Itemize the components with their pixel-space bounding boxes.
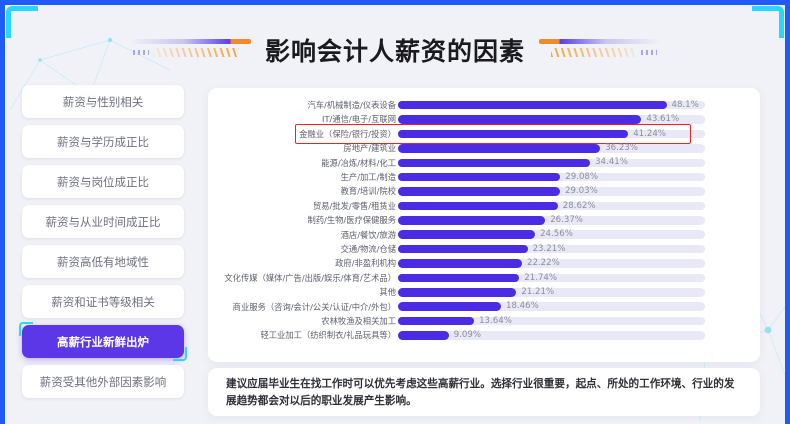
bar-value-label: 26.37% <box>550 216 583 225</box>
bar-value-label: 36.23% <box>605 144 638 153</box>
bar-row: 能源/冶炼/材料/化工34.41% <box>208 156 760 170</box>
bar-fill <box>398 130 628 139</box>
bar-value-label: 28.62% <box>563 202 596 211</box>
sidebar-item-7[interactable]: 薪资受其他外部因素影响 <box>22 365 184 398</box>
bar-track <box>398 144 705 153</box>
note-card: 建议应届毕业生在找工作时可以优先考虑这些高薪行业。选择行业很重要，起点、所处的工… <box>208 368 760 416</box>
sidebar-item-4[interactable]: 薪资高低有地域性 <box>22 245 184 278</box>
bar-fill <box>398 230 535 239</box>
sidebar-item-6[interactable]: 高薪行业新鲜出炉 <box>22 325 184 358</box>
bar-category-label: 其他 <box>379 288 396 296</box>
bar-track <box>398 317 705 326</box>
bar-fill <box>398 317 474 326</box>
bar-fill <box>398 331 449 340</box>
bar-track <box>398 302 705 311</box>
bar-fill <box>398 173 560 182</box>
title-decor-left-icon <box>129 35 251 65</box>
bar-value-label: 41.24% <box>633 130 666 139</box>
sidebar-item-5[interactable]: 薪资和证书等级相关 <box>22 285 184 318</box>
title-decor-right-icon <box>539 35 661 65</box>
sidebar-item-1[interactable]: 薪资与学历成正比 <box>22 125 184 158</box>
bar-category-label: 金融业（保险/银行/投资） <box>299 130 396 138</box>
bar-row: 制药/生物/医疗保健服务26.37% <box>208 213 760 227</box>
bar-value-label: 29.03% <box>565 187 598 196</box>
bar-row: 生产/加工/制造29.08% <box>208 170 760 184</box>
bar-value-label: 48.1% <box>672 101 699 110</box>
bar-value-label: 34.41% <box>595 158 628 167</box>
bar-category-label: 生产/加工/制造 <box>341 173 396 181</box>
bar-category-label: 贸易/批发/零售/租赁业 <box>313 202 396 210</box>
bar-category-label: 农林牧渔及相关加工 <box>321 317 396 325</box>
bar-row: 农林牧渔及相关加工13.64% <box>208 314 760 328</box>
bar-fill <box>398 302 501 311</box>
sidebar-nav: 薪资与性别相关薪资与学历成正比薪资与岗位成正比薪资与从业时间成正比薪资高低有地域… <box>22 85 184 398</box>
bar-fill <box>398 115 641 124</box>
bar-category-label: 轻工业加工（纺织制衣/礼品玩具等） <box>260 331 396 339</box>
bar-row: 酒店/餐饮/旅游24.56% <box>208 228 760 242</box>
bar-row: IT/通信/电子/互联网43.61% <box>208 112 760 126</box>
bar-fill <box>398 101 667 110</box>
bar-track <box>398 187 705 196</box>
bar-fill <box>398 159 590 168</box>
bar-row: 教育/培训/院校29.03% <box>208 184 760 198</box>
bar-fill <box>398 216 545 225</box>
frame-top-border <box>0 0 790 5</box>
sidebar-item-2[interactable]: 薪资与岗位成正比 <box>22 165 184 198</box>
sidebar-item-3[interactable]: 薪资与从业时间成正比 <box>22 205 184 238</box>
sidebar-item-label: 薪资高低有地域性 <box>57 254 149 270</box>
bar-row: 商业服务（咨询/会计/公关/认证/中介/外包）18.46% <box>208 299 760 313</box>
bar-value-label: 23.21% <box>533 245 566 254</box>
bar-fill <box>398 288 516 297</box>
bar-category-label: 酒店/餐饮/旅游 <box>341 231 396 239</box>
bar-fill <box>398 259 522 268</box>
bar-value-label: 21.21% <box>521 288 554 297</box>
bar-row: 房地产/建筑业36.23% <box>208 141 760 155</box>
bar-fill <box>398 187 560 196</box>
bar-row: 贸易/批发/零售/租赁业28.62% <box>208 199 760 213</box>
bar-row: 金融业（保险/银行/投资）41.24% <box>208 127 760 141</box>
bar-track <box>398 202 705 211</box>
bar-value-label: 22.22% <box>527 259 560 268</box>
sidebar-item-0[interactable]: 薪资与性别相关 <box>22 85 184 118</box>
bar-row: 汽车/机械制造/仪表设备48.1% <box>208 98 760 112</box>
bar-category-label: IT/通信/电子/互联网 <box>322 115 396 123</box>
bar-value-label: 43.61% <box>646 115 679 124</box>
bar-category-label: 房地产/建筑业 <box>343 144 396 152</box>
bar-row: 轻工业加工（纺织制衣/礼品玩具等）9.09% <box>208 328 760 342</box>
sidebar-item-label: 薪资和证书等级相关 <box>51 294 155 310</box>
bar-category-label: 商业服务（咨询/会计/公关/认证/中介/外包） <box>233 303 396 311</box>
bar-category-label: 交通/物流/仓储 <box>341 245 396 253</box>
sidebar-item-label: 薪资受其他外部因素影响 <box>40 374 167 390</box>
bar-row: 文化传媒（媒体/广告/出版/娱乐/体育/艺术品）21.74% <box>208 271 760 285</box>
bar-category-label: 能源/冶炼/材料/化工 <box>321 159 396 167</box>
sidebar-item-label: 薪资与岗位成正比 <box>57 174 149 190</box>
page-title: 影响会计人薪资的因素 <box>265 32 525 68</box>
bar-category-label: 汽车/机械制造/仪表设备 <box>307 101 396 109</box>
sidebar-item-label: 薪资与性别相关 <box>63 94 144 110</box>
bar-row: 交通/物流/仓储23.21% <box>208 242 760 256</box>
bar-fill <box>398 274 519 283</box>
bar-track <box>398 331 705 340</box>
bar-category-label: 政府/非盈利机构 <box>335 259 396 267</box>
bar-category-label: 制药/生物/医疗保健服务 <box>307 216 396 224</box>
bar-value-label: 29.08% <box>565 173 598 182</box>
bar-track <box>398 173 705 182</box>
sidebar-item-label: 薪资与从业时间成正比 <box>46 214 161 230</box>
bar-track <box>398 159 705 168</box>
bar-value-label: 9.09% <box>454 331 481 340</box>
page-header: 影响会计人薪资的因素 <box>0 28 790 72</box>
bar-category-label: 教育/培训/院校 <box>341 187 396 195</box>
bar-fill <box>398 202 558 211</box>
sidebar-item-label: 薪资与学历成正比 <box>57 134 149 150</box>
sidebar-item-label: 高薪行业新鲜出炉 <box>57 334 149 350</box>
bar-chart: 汽车/机械制造/仪表设备48.1%IT/通信/电子/互联网43.61%金融业（保… <box>208 98 760 343</box>
bar-value-label: 24.56% <box>540 230 573 239</box>
bar-row: 其他21.21% <box>208 285 760 299</box>
bar-row: 政府/非盈利机构22.22% <box>208 256 760 270</box>
chart-card: 汽车/机械制造/仪表设备48.1%IT/通信/电子/互联网43.61%金融业（保… <box>208 88 760 362</box>
bar-value-label: 13.64% <box>479 317 512 326</box>
bar-value-label: 21.74% <box>524 274 557 283</box>
bar-fill <box>398 245 528 254</box>
bar-track <box>398 101 705 110</box>
bar-value-label: 18.46% <box>506 302 539 311</box>
footer-note-text: 建议应届毕业生在找工作时可以优先考虑这些高薪行业。选择行业很重要，起点、所处的工… <box>226 376 742 411</box>
slide-root: 影响会计人薪资的因素 薪资与性别相关薪资与学历成正比薪资与岗位成正比薪资与从业时… <box>0 0 790 424</box>
bar-category-label: 文化传媒（媒体/广告/出版/娱乐/体育/艺术品） <box>224 274 396 282</box>
bar-fill <box>398 144 600 153</box>
